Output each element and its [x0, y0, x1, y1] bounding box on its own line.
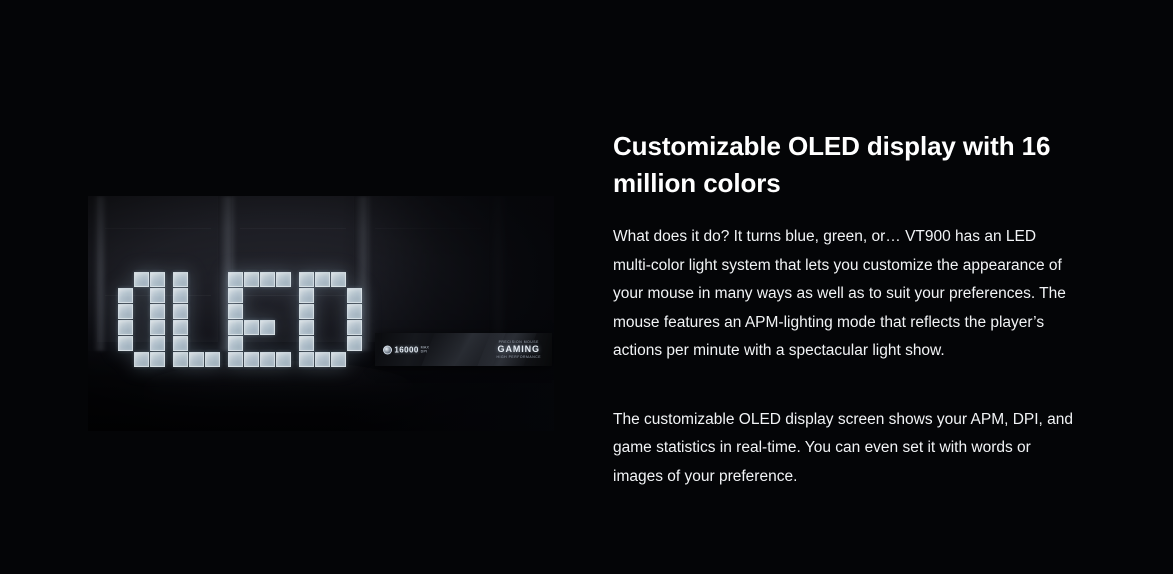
dpi-unit: MAX DPI [421, 345, 429, 354]
dpi-unit-line1: MAX [421, 345, 429, 349]
dpi-unit-line2: DPI [421, 350, 428, 354]
oled-display-product-photo: 16000 MAX DPI PRECISION MOUSE GAMING HIG… [88, 196, 554, 431]
page-title: Customizable OLED display with 16 millio… [613, 128, 1075, 202]
dpi-badge: 16000 MAX DPI [383, 345, 429, 354]
gaming-subtitle-bottom: HIGH PERFORMANCE [496, 355, 541, 360]
scene-right-fade [340, 196, 554, 431]
emblem-icon [383, 345, 392, 354]
feature-copy-column: Customizable OLED display with 16 millio… [613, 128, 1075, 491]
dpi-value: 16000 [394, 345, 418, 354]
block-letter-o [118, 272, 165, 367]
gaming-label: GAMING [496, 345, 541, 355]
oled-block-lettering [118, 272, 362, 367]
product-spec-banner: 16000 MAX DPI PRECISION MOUSE GAMING HIG… [375, 333, 552, 366]
gaming-badge: PRECISION MOUSE GAMING HIGH PERFORMANCE [496, 340, 541, 360]
feature-paragraph-1: What does it do? It turns blue, green, o… [613, 223, 1075, 366]
feature-paragraph-2: The customizable OLED display screen sho… [613, 406, 1075, 492]
product-feature-section: 16000 MAX DPI PRECISION MOUSE GAMING HIG… [0, 0, 1173, 574]
block-letter-e [228, 272, 291, 367]
block-letter-l [173, 272, 220, 367]
block-letter-d [299, 272, 362, 367]
